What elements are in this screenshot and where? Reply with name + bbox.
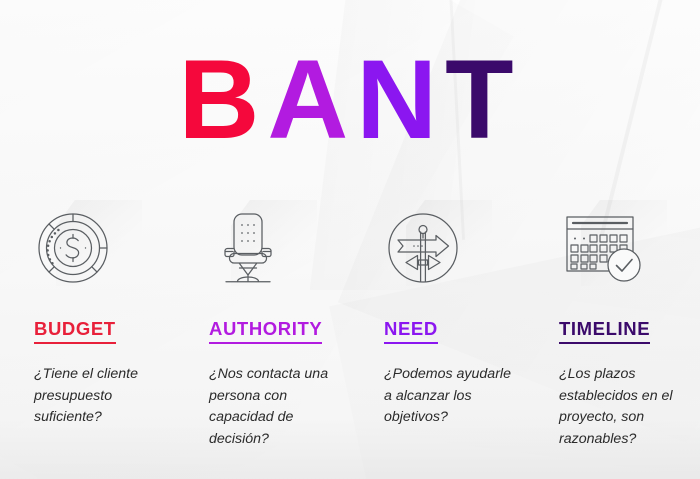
icon-container-authority <box>209 196 305 300</box>
label-authority: AUTHORITY <box>209 318 322 344</box>
column-timeline: TIMELINE ¿Los plazos establecidos en el … <box>525 196 700 451</box>
title-letter-a: A <box>267 44 356 156</box>
coin-dollar-icon <box>34 209 112 287</box>
page-title: BANT <box>178 44 521 156</box>
column-need: NEED ¿Podemos ayudarle a alcanzar los ob… <box>350 196 525 451</box>
calendar-check-icon <box>559 209 645 287</box>
description-budget: ¿Tiene el cliente presupuesto suficiente… <box>34 364 163 429</box>
icon-container-budget <box>34 196 130 300</box>
icon-container-timeline <box>559 196 655 300</box>
column-authority: AUTHORITY ¿Nos contacta una persona con … <box>175 196 350 451</box>
icon-container-need <box>384 196 480 300</box>
signpost-direction-icon <box>384 209 462 287</box>
title-container: BANT <box>0 44 700 156</box>
description-need: ¿Podemos ayudarle a alcanzar los objetiv… <box>384 364 513 429</box>
label-need: NEED <box>384 318 438 344</box>
description-authority: ¿Nos contacta una persona con capacidad … <box>209 364 338 450</box>
label-timeline: TIMELINE <box>559 318 650 344</box>
bant-columns: BUDGET ¿Tiene el cliente presupuesto suf… <box>0 196 700 451</box>
description-timeline: ¿Los plazos establecidos en el proyecto,… <box>559 364 688 450</box>
office-chair-icon <box>209 207 287 289</box>
title-letter-n: N <box>356 44 445 156</box>
column-budget: BUDGET ¿Tiene el cliente presupuesto suf… <box>0 196 175 451</box>
label-budget: BUDGET <box>34 318 116 344</box>
title-letter-t: T <box>445 44 521 156</box>
title-letter-b: B <box>178 44 267 156</box>
